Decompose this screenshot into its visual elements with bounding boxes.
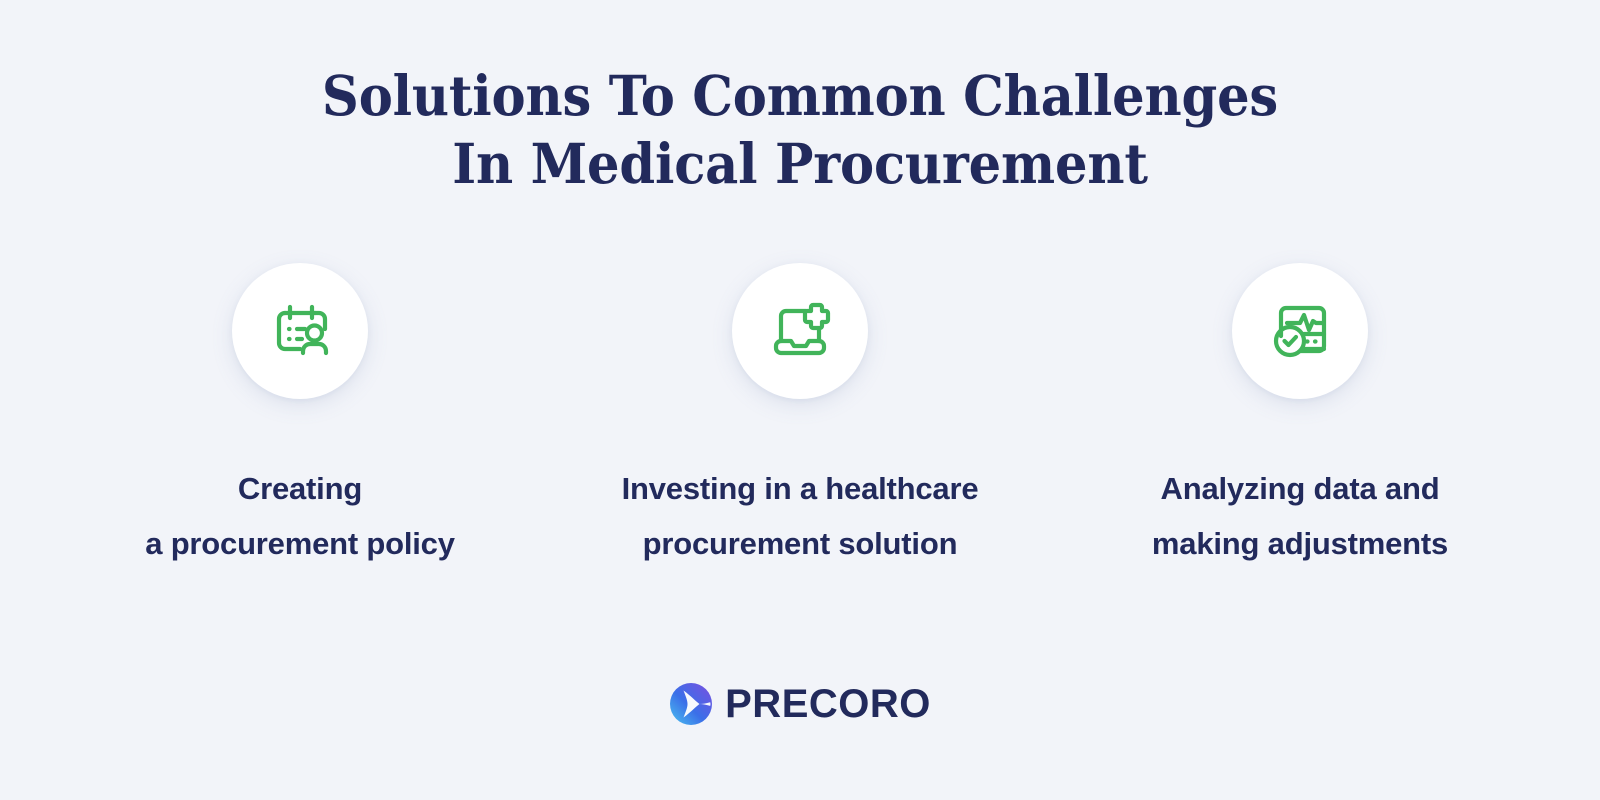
caption-line-2: a procurement policy xyxy=(145,516,455,571)
calendar-contact-icon xyxy=(263,294,337,368)
laptop-medical-cross-icon xyxy=(763,294,837,368)
card-investing-healthcare-solution: Investing in a healthcare procurement so… xyxy=(550,263,1050,571)
precoro-logo: PRECORO xyxy=(0,682,1600,726)
monitor-heartbeat-check-icon xyxy=(1263,294,1337,368)
icon-badge-3 xyxy=(1232,263,1368,399)
infographic-slide: Solutions To Common Challenges In Medica… xyxy=(0,0,1600,800)
card-caption-3: Analyzing data and making adjustments xyxy=(1152,461,1448,571)
card-creating-procurement-policy: Creating a procurement policy xyxy=(50,263,550,571)
card-caption-1: Creating a procurement policy xyxy=(145,461,455,571)
caption-line-1: Creating xyxy=(145,461,455,516)
caption-line-2: making adjustments xyxy=(1152,516,1448,571)
title-line-2: In Medical Procurement xyxy=(251,130,1348,198)
card-analyzing-data-adjustments: Analyzing data and making adjustments xyxy=(1050,263,1550,571)
icon-badge-2 xyxy=(732,263,868,399)
precoro-wordmark: PRECORO xyxy=(725,682,931,726)
caption-line-2: procurement solution xyxy=(622,516,979,571)
caption-line-1: Analyzing data and xyxy=(1152,461,1448,516)
caption-line-1: Investing in a healthcare xyxy=(622,461,979,516)
icon-badge-1 xyxy=(232,263,368,399)
card-caption-2: Investing in a healthcare procurement so… xyxy=(622,461,979,571)
cards-row: Creating a procurement policy xyxy=(0,263,1600,571)
title-line-1: Solutions To Common Challenges xyxy=(251,62,1348,130)
page-title: Solutions To Common Challenges In Medica… xyxy=(210,62,1390,198)
precoro-logo-mark xyxy=(669,682,713,726)
